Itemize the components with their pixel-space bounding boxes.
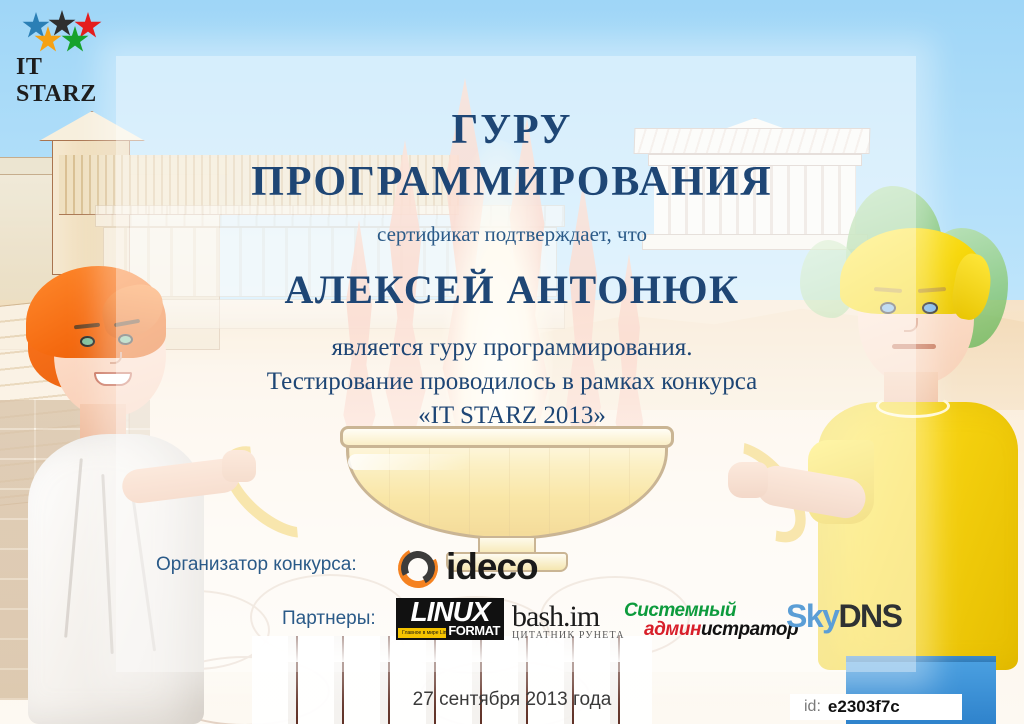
- certificate-body-line2: Тестирование проводилось в рамках конкур…: [0, 368, 1024, 396]
- organizer-row: Организатор конкурса: ideco: [0, 548, 1024, 590]
- skydns-logo: SkyDNS: [786, 598, 902, 640]
- sysadmin-line2: администратор: [644, 619, 798, 641]
- stars-group: [14, 10, 114, 56]
- sysadmin-line2-red: админ: [644, 619, 701, 640]
- sysadmin-line2-black: истратор: [701, 619, 798, 640]
- certificate-title-line1: ГУРУ: [0, 106, 1024, 154]
- certificate-body-line3: «IT STARZ 2013»: [0, 402, 1024, 430]
- organizer-label: Организатор конкурса:: [156, 554, 357, 576]
- linux-format-logo: LINUX Главное в мире Linux FORMAT: [396, 598, 504, 640]
- certificate-subtitle: сертификат подтверждает, что: [0, 222, 1024, 247]
- format-wordmark: FORMAT: [446, 623, 502, 638]
- partners-label: Партнеры:: [282, 608, 376, 630]
- certificate-title-line2: ПРОГРАММИРОВАНИЯ: [0, 158, 1024, 206]
- id-value: e2303f7c: [828, 697, 900, 717]
- bashim-tagline: ЦИТАТНИК РУНЕТА: [512, 630, 625, 641]
- certificate-body-line1: является гуру программирования.: [0, 334, 1024, 362]
- skydns-sky: Sky: [786, 598, 838, 634]
- ideco-wordmark: ideco: [446, 546, 538, 588]
- id-label: id:: [804, 698, 821, 716]
- certificate-page: IT STARZ ГУРУ ПРОГРАММИРОВАНИЯ сертифика…: [0, 0, 1024, 724]
- red-star-icon: [74, 12, 102, 40]
- bashim-wordmark: bash.im: [512, 600, 599, 634]
- it-starz-logo: IT STARZ: [14, 10, 114, 92]
- ideco-swirl-icon: [398, 548, 438, 588]
- recipient-name: АЛЕКСЕЙ АНТОНЮК: [0, 266, 1024, 313]
- partners-row: Партнеры: LINUX Главное в мире Linux FOR…: [0, 598, 1024, 646]
- certificate-id-box: id: e2303f7c: [790, 694, 962, 720]
- dark-star-icon: [48, 10, 76, 38]
- skydns-dns: DNS: [838, 598, 901, 634]
- sysadmin-logo: Системный администратор: [624, 600, 780, 642]
- ideco-logo: ideco: [398, 544, 548, 592]
- logo-wordmark: IT STARZ: [16, 54, 116, 108]
